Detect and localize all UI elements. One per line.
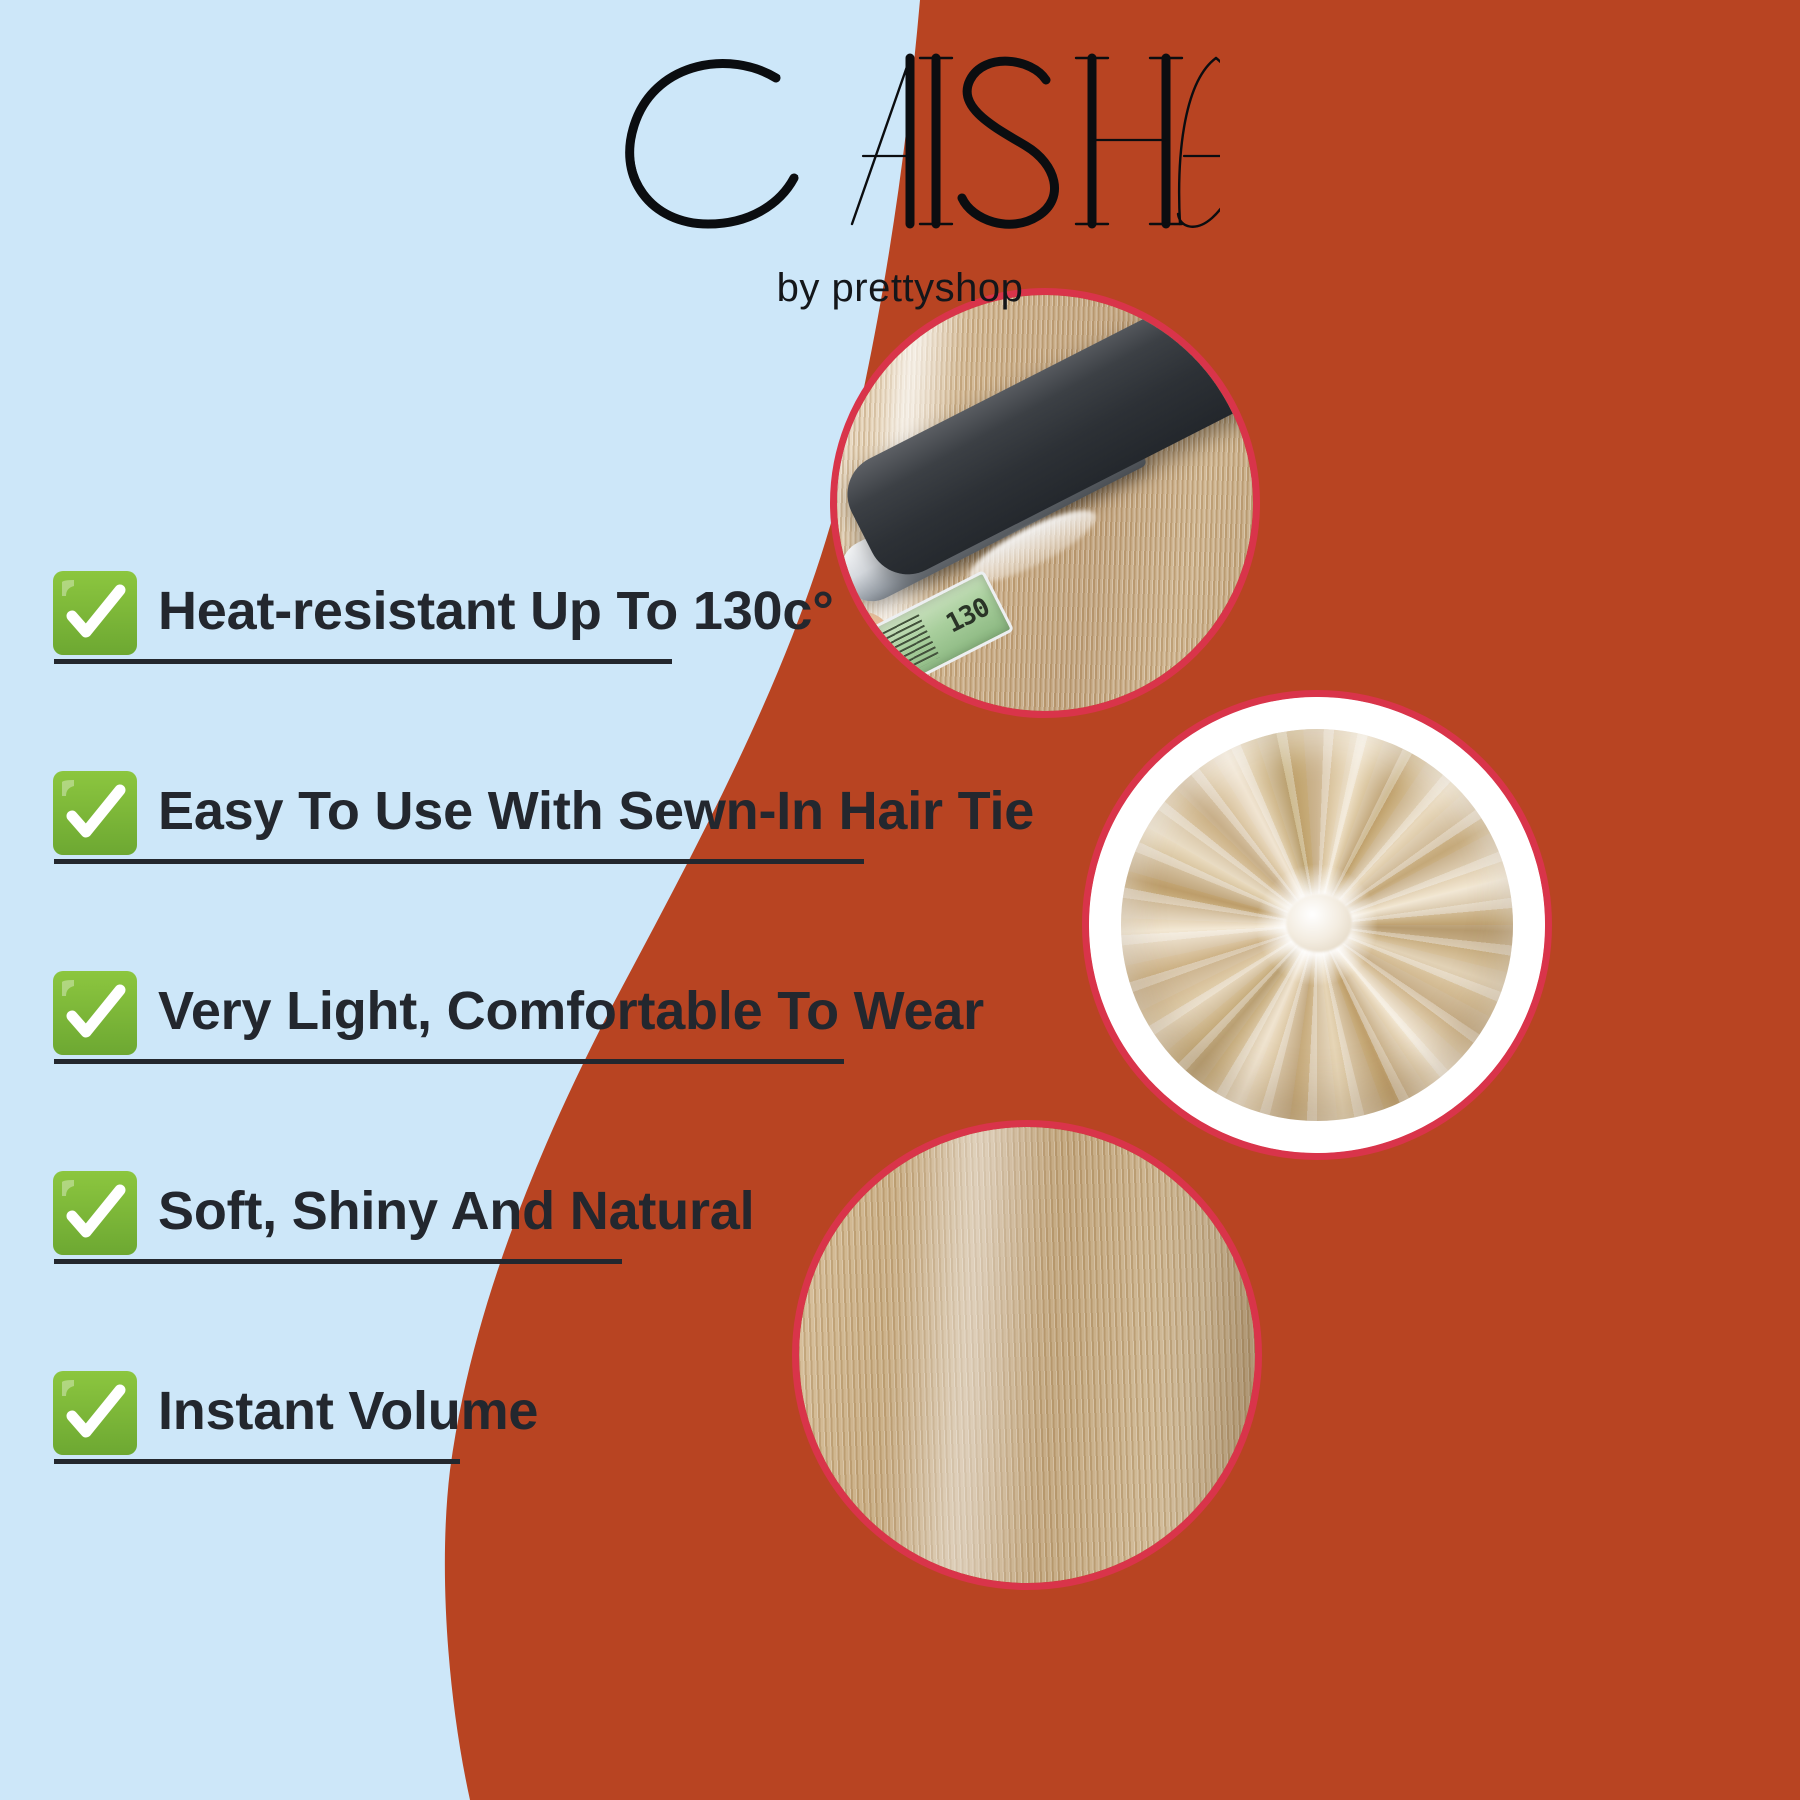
- check-icon: [52, 970, 138, 1056]
- feature-item: Very Light, Comfortable To Wear: [52, 870, 1012, 1070]
- feature-underline: [54, 1459, 460, 1464]
- brand-tagline: by prettyshop: [0, 266, 1800, 311]
- feature-item: Heat-resistant Up To 130c°: [52, 470, 1012, 670]
- hair-shadow-edge: [1155, 1127, 1255, 1583]
- feature-item: Easy To Use With Sewn-In Hair Tie: [52, 670, 1012, 870]
- feature-item: Instant Volume: [52, 1270, 1012, 1470]
- product-infographic: by prettyshop: [0, 0, 1800, 1800]
- feature-underline: [54, 659, 672, 664]
- check-icon: [52, 770, 138, 856]
- brand-logo-wordmark: [580, 28, 1220, 238]
- feature-label: Very Light, Comfortable To Wear: [158, 984, 984, 1042]
- check-icon: [52, 570, 138, 656]
- feature-label: Heat-resistant Up To 130c°: [158, 584, 834, 642]
- feature-underline: [54, 859, 864, 864]
- scrunchie-center: [1286, 894, 1353, 953]
- check-icon: [52, 1170, 138, 1256]
- feature-underline: [54, 1259, 622, 1264]
- photo-hair-scrunchie-bun: [1082, 690, 1552, 1160]
- feature-list: Heat-resistant Up To 130c° Easy To Use W…: [52, 470, 1012, 1470]
- feature-label: Easy To Use With Sewn-In Hair Tie: [158, 784, 1034, 842]
- feature-label: Soft, Shiny And Natural: [158, 1184, 754, 1242]
- check-icon: [52, 1370, 138, 1456]
- scrunchie-hair-image: [1121, 729, 1513, 1121]
- feature-underline: [54, 1059, 844, 1064]
- feature-label: Instant Volume: [158, 1384, 538, 1442]
- feature-item: Soft, Shiny And Natural: [52, 1070, 1012, 1270]
- brand-logo-block: by prettyshop: [0, 28, 1800, 243]
